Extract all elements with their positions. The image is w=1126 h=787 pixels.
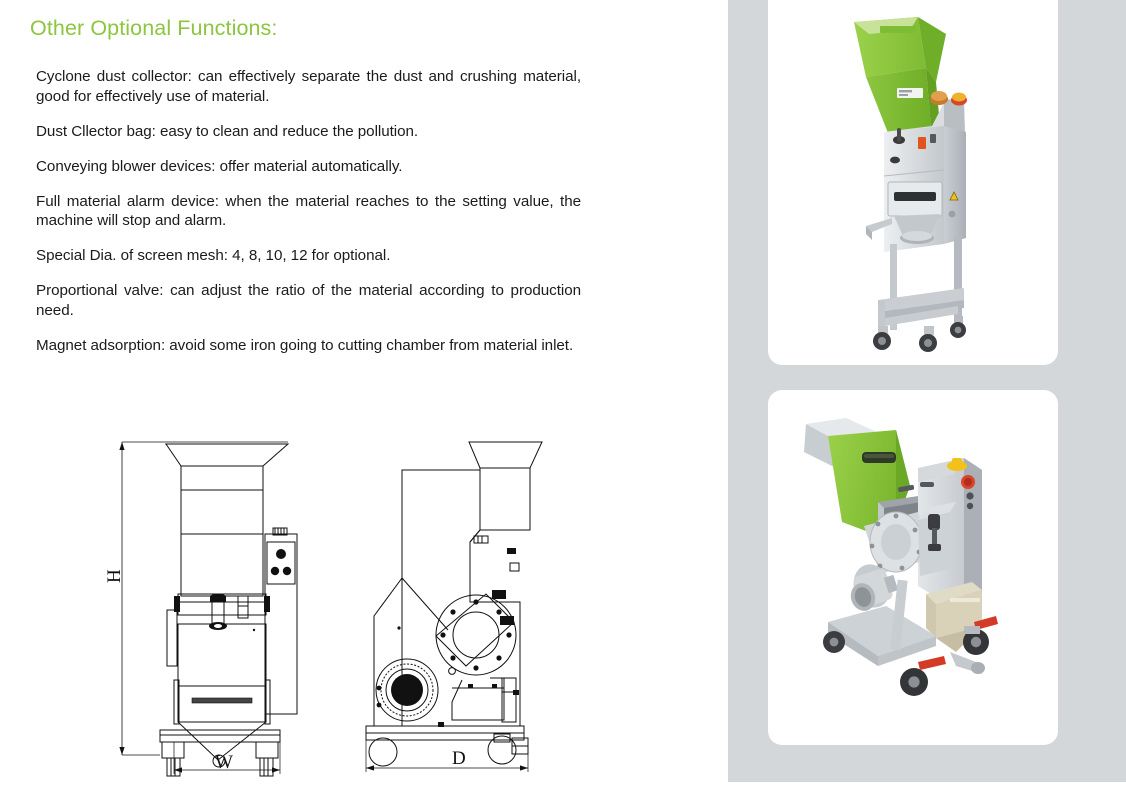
feature-special-dia-screen-mesh: Special Dia. of screen mesh: 4, 8, 10, 1…	[36, 246, 581, 266]
front-elevation-svg	[88, 430, 313, 782]
granulator-open-chamber-photo	[768, 390, 1058, 745]
dimension-label-depth: D	[452, 748, 466, 770]
feature-magnet-adsorption: Magnet adsorption: avoid some iron going…	[36, 336, 581, 356]
granulator-full-machine-illustration	[768, 0, 1058, 365]
optional-functions-list: Cyclone dust collector: can effectively …	[36, 52, 581, 355]
feature-conveying-blower-devices: Conveying blower devices: offer material…	[36, 157, 581, 177]
content-column: Other Optional Functions: Cyclone dust c…	[0, 0, 728, 782]
feature-dust-collector-bag: Dust Cllector bag: easy to clean and red…	[36, 122, 581, 142]
granulator-full-machine-photo	[768, 0, 1058, 365]
side-elevation-svg	[352, 430, 562, 782]
page-title: Other Optional Functions:	[30, 16, 277, 41]
dimension-label-height: H	[104, 569, 126, 583]
product-photo-card-2	[768, 390, 1058, 745]
feature-proportional-valve: Proportional valve: can adjust the ratio…	[36, 281, 581, 320]
dimension-label-width: W	[215, 752, 233, 774]
front-elevation-drawing	[88, 430, 313, 787]
granulator-open-chamber-illustration	[768, 390, 1058, 745]
feature-cyclone-dust-collector: Cyclone dust collector: can effectively …	[36, 67, 581, 106]
feature-full-material-alarm-device: Full material alarm device: when the mat…	[36, 192, 581, 231]
technical-drawings	[0, 430, 728, 782]
side-elevation-drawing	[352, 430, 562, 787]
product-photo-card-1	[768, 0, 1058, 365]
product-photo-panel	[728, 0, 1126, 782]
